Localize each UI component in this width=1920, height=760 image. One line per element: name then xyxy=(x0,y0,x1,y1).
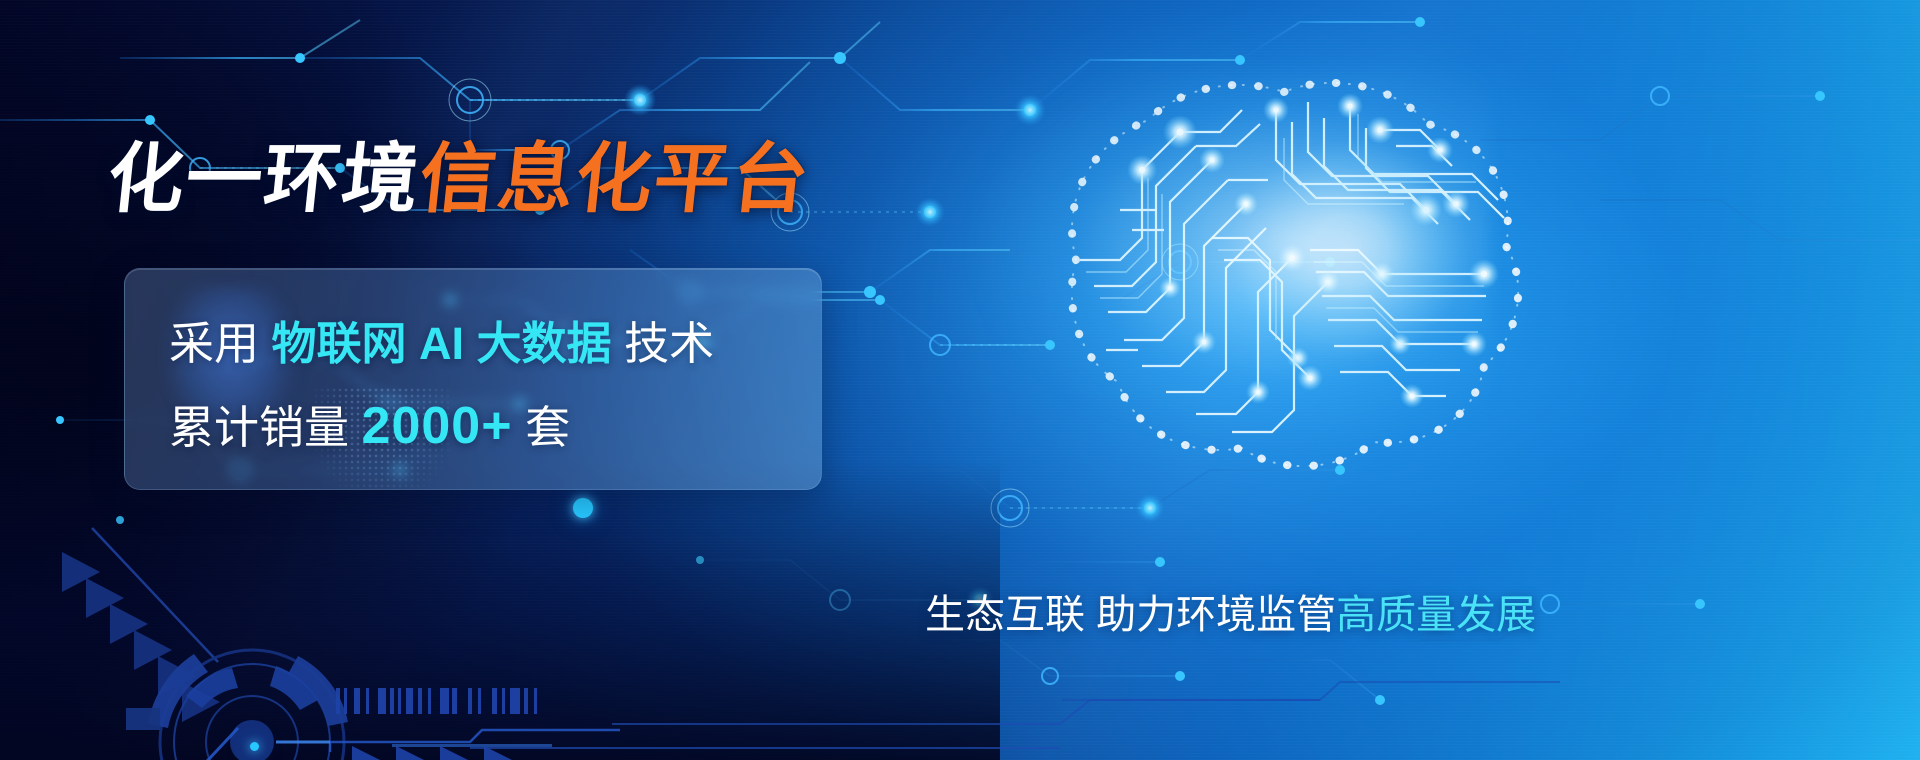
hud-rails xyxy=(276,682,1560,752)
tagline-lead: 生态互联 助力环境监管 xyxy=(925,593,1336,637)
feature-line-technology: 采用 物联网 AI 大数据 技术 xyxy=(169,321,821,366)
background-bottom-shade xyxy=(0,460,1000,760)
circuit-brain-graphic xyxy=(880,10,1600,510)
hud-barcode-strip xyxy=(336,688,537,714)
feature-card: 采用 物联网 AI 大数据 技术 累计销量 2000+ 套 xyxy=(124,268,822,490)
accent-dot-small xyxy=(250,742,259,751)
page-title-accent: 信息化平台 xyxy=(416,137,815,222)
tagline: 生态互联 助力环境监管高质量发展 xyxy=(925,595,1536,635)
page-title-primary: 化一环境 xyxy=(104,137,425,222)
page-title: 化一环境信息化平台 xyxy=(104,142,814,218)
brain-glow xyxy=(970,70,1490,450)
tech-line-trail: 技术 xyxy=(624,318,714,369)
sales-line-lead: 累计销量 xyxy=(169,402,349,453)
tech-line-highlight: 物联网 AI 大数据 xyxy=(272,318,612,369)
feature-card-lines: 采用 物联网 AI 大数据 技术 累计销量 2000+ 套 xyxy=(125,269,821,452)
chevron-arrow-strip-bottom xyxy=(352,746,524,760)
sales-count-value: 2000+ xyxy=(362,397,513,455)
chevron-arrow-strip xyxy=(62,552,220,722)
hud-radar-dial xyxy=(126,650,348,760)
tagline-highlight: 高质量发展 xyxy=(1336,593,1536,637)
accent-dot-large xyxy=(573,498,593,518)
tech-line-lead: 采用 xyxy=(169,318,259,369)
brain-circuit-svg xyxy=(880,10,1600,510)
sales-line-trail: 套 xyxy=(525,402,570,453)
hero-banner: 化一环境信息化平台 采用 物联网 AI 大数据 技术 累计销量 2000+ 套 … xyxy=(0,0,1920,760)
feature-line-sales: 累计销量 2000+ 套 xyxy=(169,400,821,452)
